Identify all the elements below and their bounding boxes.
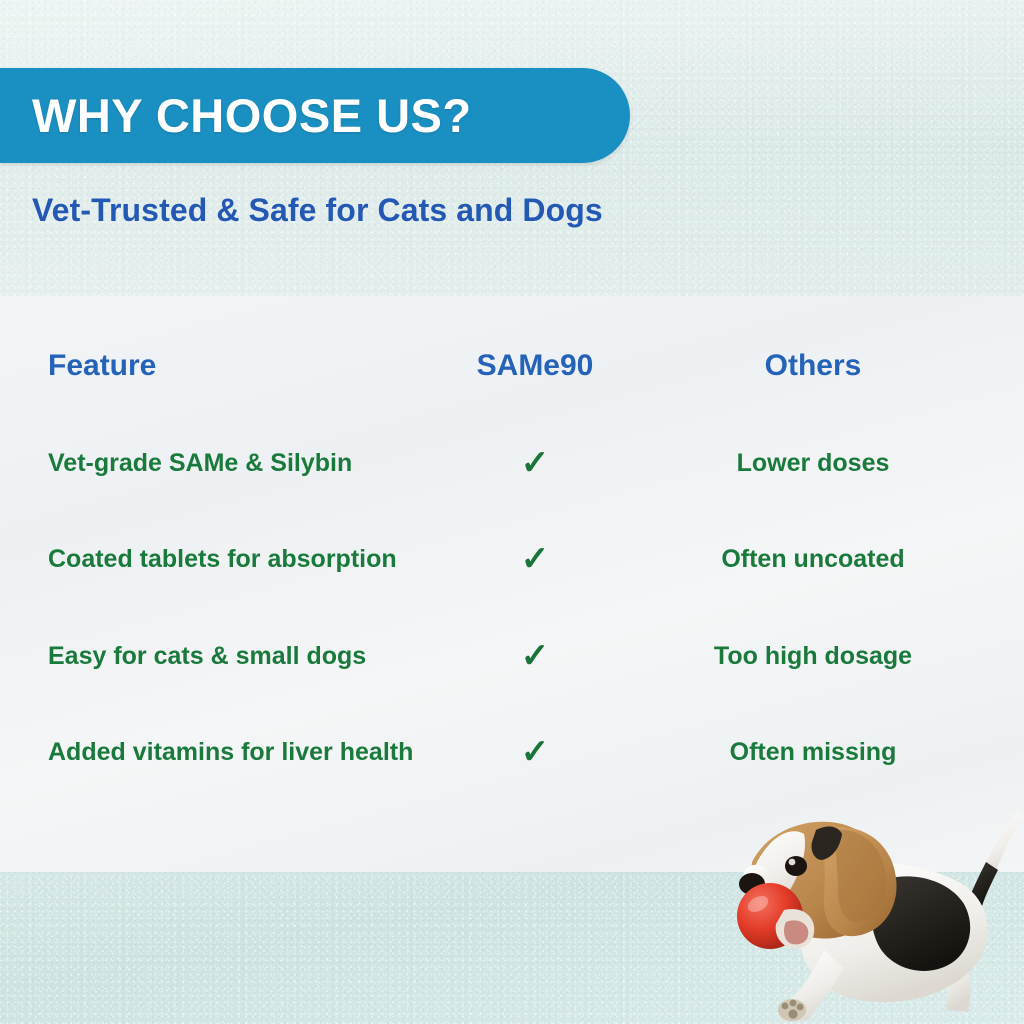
others-value: Often missing [650, 738, 976, 767]
beagle-puppy-illustration [712, 800, 1024, 1024]
table-row: Vet-grade SAMe & Silybin ✓ Lower doses [0, 441, 1024, 485]
same90-cell: ✓ [420, 446, 650, 480]
feature-label: Added vitamins for liver health [0, 738, 420, 767]
infographic-canvas: WHY CHOOSE US? Vet-Trusted & Safe for Ca… [0, 0, 1024, 1024]
table-row: Coated tablets for absorption ✓ Often un… [0, 537, 1024, 581]
banner-title: WHY CHOOSE US? [0, 88, 472, 143]
others-value: Too high dosage [650, 642, 976, 671]
feature-label: Vet-grade SAMe & Silybin [0, 449, 420, 478]
same90-cell: ✓ [420, 735, 650, 769]
subtitle-text: Vet-Trusted & Safe for Cats and Dogs [32, 192, 603, 229]
table-row: Added vitamins for liver health ✓ Often … [0, 730, 1024, 774]
check-icon: ✓ [521, 446, 550, 480]
others-value: Often uncoated [650, 545, 976, 574]
check-icon: ✓ [521, 735, 550, 769]
column-header-same90: SAMe90 [420, 349, 650, 383]
feature-label: Easy for cats & small dogs [0, 642, 420, 671]
table-header-row: Feature SAMe90 Others [0, 344, 1024, 388]
check-icon: ✓ [521, 639, 550, 673]
feature-label: Coated tablets for absorption [0, 545, 420, 574]
same90-cell: ✓ [420, 542, 650, 576]
check-icon: ✓ [521, 542, 550, 576]
dog-photo [712, 800, 1024, 1024]
why-choose-us-banner: WHY CHOOSE US? [0, 68, 630, 163]
table-row: Easy for cats & small dogs ✓ Too high do… [0, 634, 1024, 678]
column-header-feature: Feature [0, 349, 420, 383]
same90-cell: ✓ [420, 639, 650, 673]
others-value: Lower doses [650, 449, 976, 478]
column-header-others: Others [650, 349, 976, 383]
